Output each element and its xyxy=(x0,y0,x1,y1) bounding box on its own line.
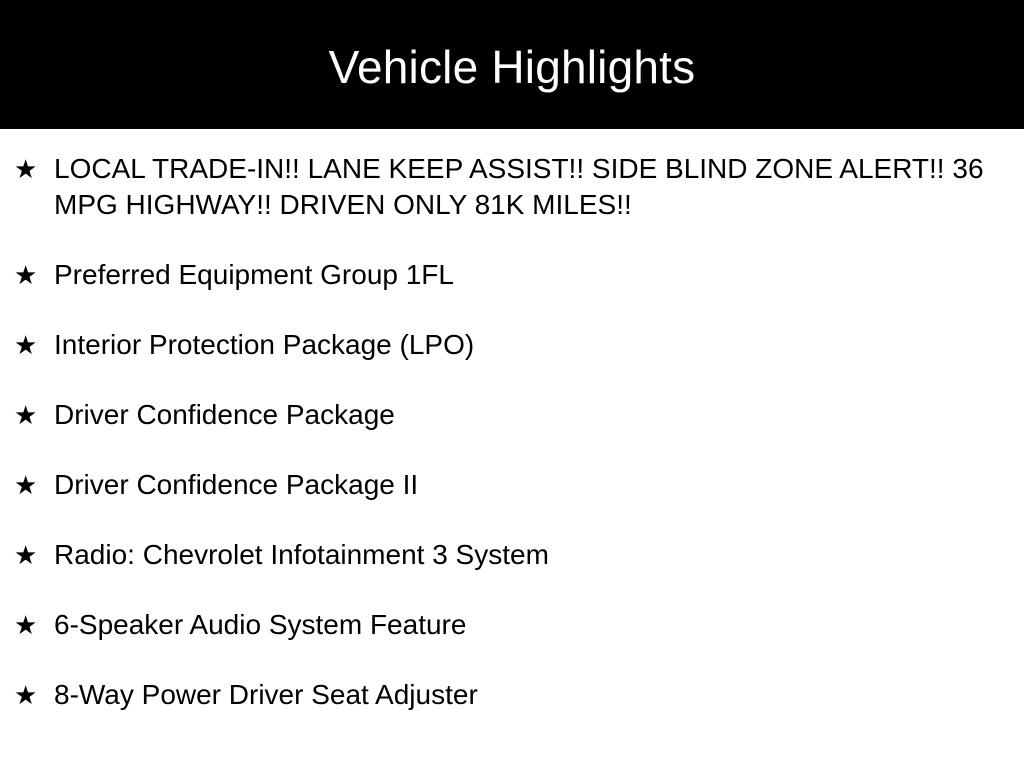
page-header-band: Vehicle Highlights xyxy=(0,0,1024,129)
list-item-label: Driver Confidence Package II xyxy=(54,467,1004,503)
vehicle-highlights-page: Vehicle Highlights ★ LOCAL TRADE-IN!! LA… xyxy=(0,0,1024,768)
list-item-label: Driver Confidence Package xyxy=(54,397,1004,433)
page-title: Vehicle Highlights xyxy=(329,44,696,90)
list-item-label: 6-Speaker Audio System Feature xyxy=(54,607,1004,643)
list-item: ★ 6-Speaker Audio System Feature xyxy=(10,607,1004,643)
list-item: ★ Interior Protection Package (LPO) xyxy=(10,327,1004,363)
list-item: ★ LOCAL TRADE-IN!! LANE KEEP ASSIST!! SI… xyxy=(10,151,1004,223)
star-bullet-icon: ★ xyxy=(14,151,44,187)
list-item-label: Interior Protection Package (LPO) xyxy=(54,327,1004,363)
star-bullet-icon: ★ xyxy=(14,677,44,713)
star-bullet-icon: ★ xyxy=(14,537,44,573)
vehicle-highlights-list: ★ LOCAL TRADE-IN!! LANE KEEP ASSIST!! SI… xyxy=(0,129,1024,713)
star-bullet-icon: ★ xyxy=(14,607,44,643)
list-item: ★ Driver Confidence Package II xyxy=(10,467,1004,503)
star-bullet-icon: ★ xyxy=(14,397,44,433)
star-bullet-icon: ★ xyxy=(14,257,44,293)
list-item-label: LOCAL TRADE-IN!! LANE KEEP ASSIST!! SIDE… xyxy=(54,151,1004,223)
list-item: ★ Preferred Equipment Group 1FL xyxy=(10,257,1004,293)
list-item-label: 8-Way Power Driver Seat Adjuster xyxy=(54,677,1004,713)
list-item-label: Preferred Equipment Group 1FL xyxy=(54,257,1004,293)
list-item-label: Radio: Chevrolet Infotainment 3 System xyxy=(54,537,1004,573)
star-bullet-icon: ★ xyxy=(14,327,44,363)
list-item: ★ Driver Confidence Package xyxy=(10,397,1004,433)
list-item: ★ Radio: Chevrolet Infotainment 3 System xyxy=(10,537,1004,573)
star-bullet-icon: ★ xyxy=(14,467,44,503)
list-item: ★ 8-Way Power Driver Seat Adjuster xyxy=(10,677,1004,713)
